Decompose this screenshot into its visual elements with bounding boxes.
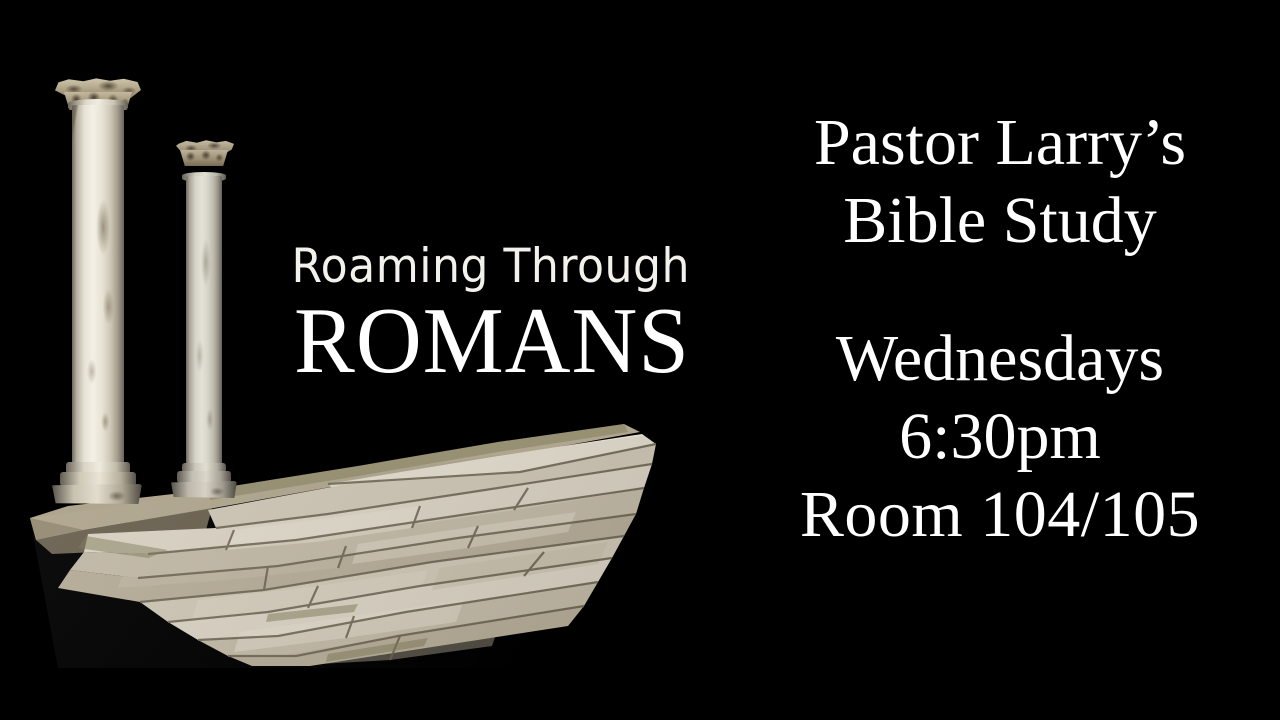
heading-line-1: Pastor Larry’s bbox=[740, 104, 1260, 182]
column-base-plinth bbox=[171, 481, 237, 498]
event-room: Room 104/105 bbox=[740, 476, 1260, 554]
column-shaft bbox=[72, 105, 124, 465]
column-shaft bbox=[186, 176, 222, 466]
series-logo: Roaming Through ROMANS bbox=[250, 243, 690, 388]
heading-line-2: Bible Study bbox=[740, 182, 1260, 260]
event-info-block: Pastor Larry’s Bible Study Wednesdays 6:… bbox=[740, 104, 1260, 553]
event-details: Wednesdays 6:30pm Room 104/105 bbox=[740, 320, 1260, 554]
column-capital-acanthus-icon bbox=[180, 150, 228, 166]
column-base-mid bbox=[60, 472, 136, 486]
series-logo-line-1: Roaming Through bbox=[276, 243, 690, 290]
series-logo-line-2: ROMANS bbox=[263, 294, 690, 388]
column-base-plinth bbox=[52, 484, 142, 504]
column-base-mid bbox=[177, 471, 231, 483]
slide-canvas: Roaming Through ROMANS Pastor Larry’s Bi… bbox=[0, 0, 1280, 720]
event-day: Wednesdays bbox=[740, 320, 1260, 398]
event-time: 6:30pm bbox=[740, 398, 1260, 476]
event-heading: Pastor Larry’s Bible Study bbox=[740, 104, 1260, 260]
